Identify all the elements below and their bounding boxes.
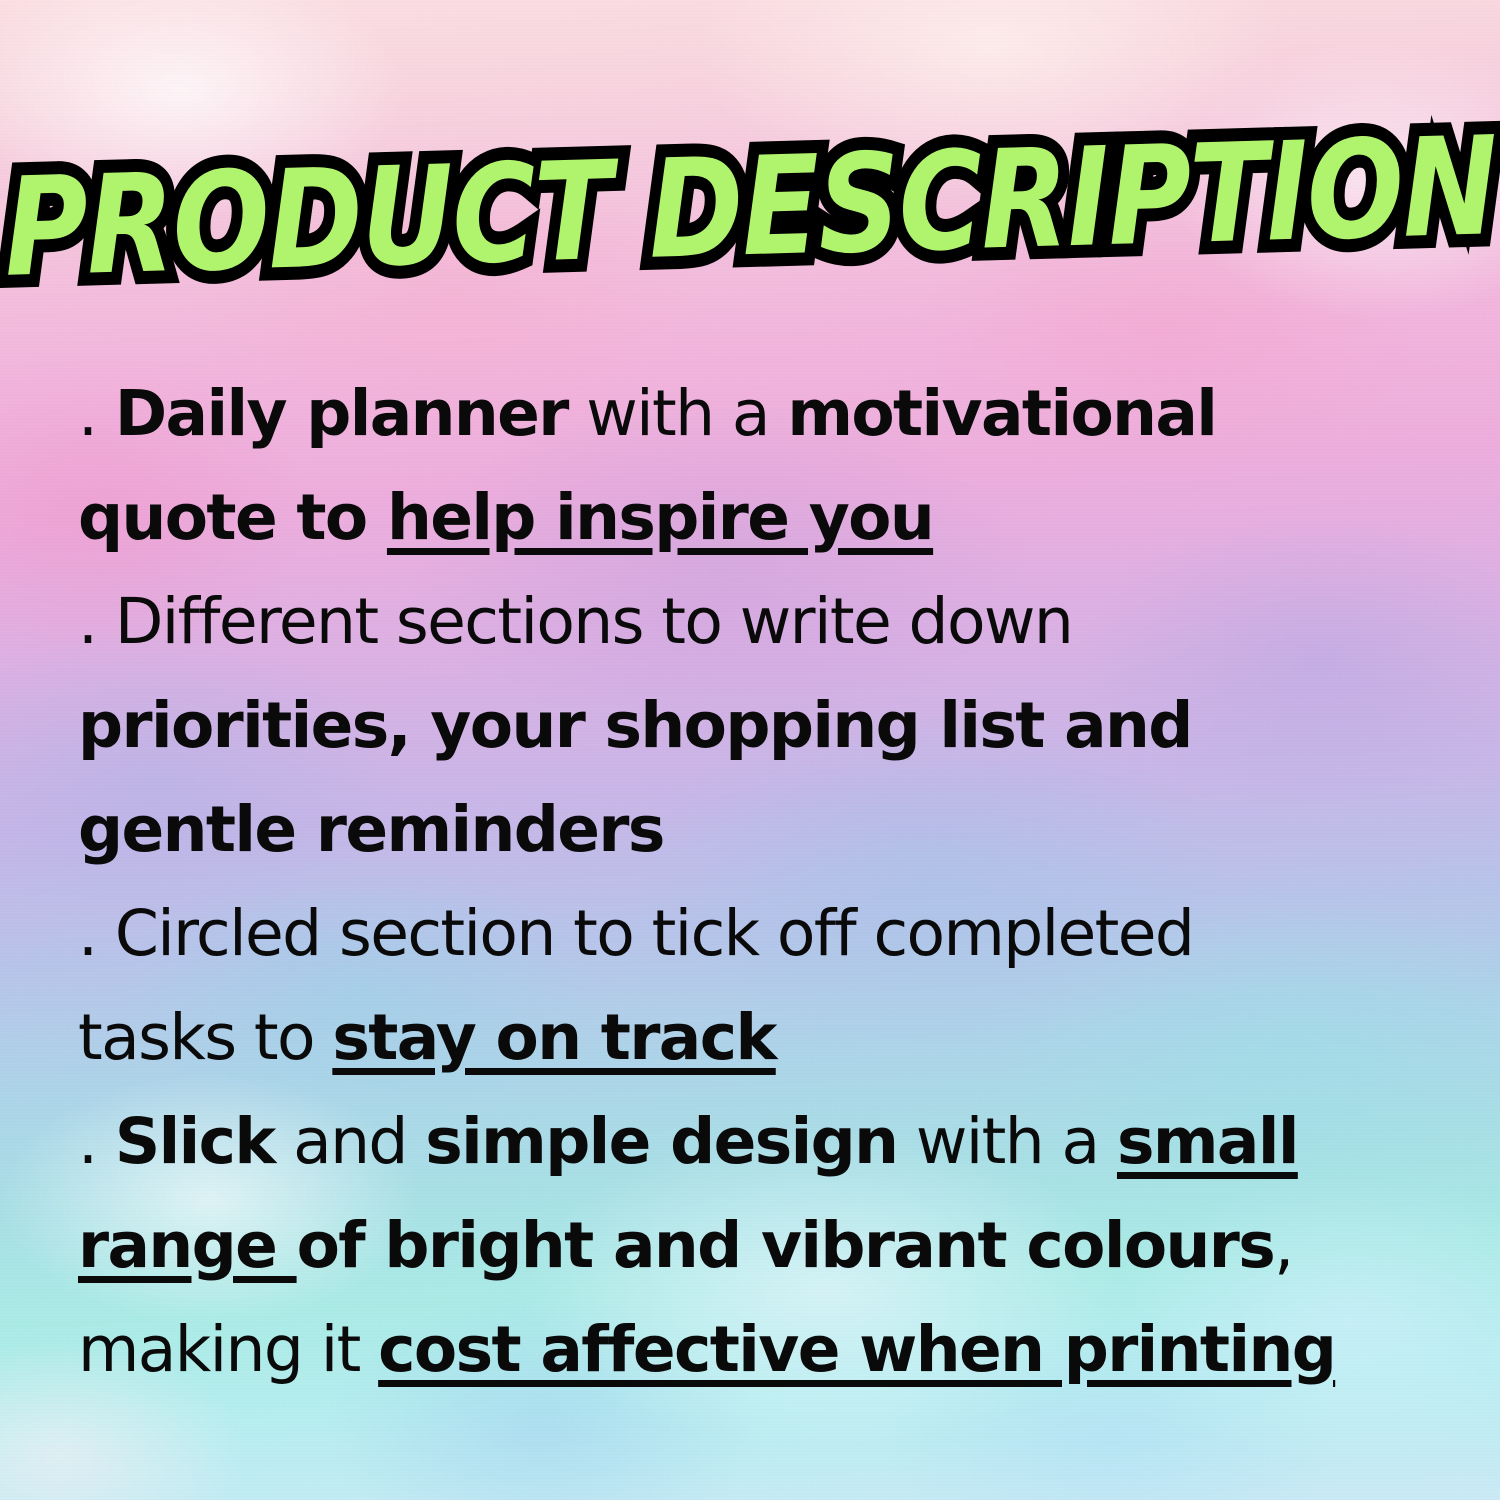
text-run: with a — [897, 1105, 1117, 1178]
text-run: cost affective when printing — [378, 1313, 1335, 1386]
text-run: . — [78, 377, 115, 450]
text-run: priorities, your shopping list and — [78, 689, 1192, 762]
bullet-different-sections-line-1: . Different sections to write down — [78, 570, 1438, 674]
text-run: motivational — [787, 377, 1216, 450]
bullet-slick-simple-design: . Slick and simple design with a smallra… — [78, 1090, 1438, 1402]
bullet-slick-simple-design-line-1: . Slick and simple design with a small — [78, 1090, 1438, 1194]
text-run: . Circled section to tick off completed — [78, 897, 1193, 970]
text-run: simple design — [425, 1105, 897, 1178]
text-run: with a — [568, 377, 788, 450]
text-run: quote to — [78, 481, 387, 554]
bullet-circled-section: . Circled section to tick off completedt… — [78, 882, 1438, 1090]
page-title-text: PRODUCT DESCRIPTION — [2, 119, 1498, 297]
bullet-different-sections-line-2: priorities, your shopping list and — [78, 674, 1438, 778]
text-run: , — [1274, 1209, 1292, 1282]
product-description-poster: PRODUCT DESCRIPTION . Daily planner with… — [0, 0, 1500, 1500]
bullet-daily-planner: . Daily planner with a motivationalquote… — [78, 362, 1438, 570]
text-run: help inspire you — [387, 481, 933, 554]
bullet-daily-planner-line-1: . Daily planner with a motivational — [78, 362, 1438, 466]
text-run: small — [1117, 1105, 1298, 1178]
text-run: of bright and vibrant colours — [297, 1209, 1275, 1282]
text-run: gentle reminders — [78, 793, 664, 866]
text-run: . — [78, 1105, 115, 1178]
bullet-circled-section-line-1: . Circled section to tick off completed — [78, 882, 1438, 986]
text-run: . Different sections to write down — [78, 585, 1072, 658]
text-run: and — [275, 1105, 426, 1178]
text-run: tasks to — [78, 1001, 332, 1074]
page-title: PRODUCT DESCRIPTION — [0, 118, 1500, 298]
bullet-slick-simple-design-line-3: making it cost affective when printing — [78, 1298, 1438, 1402]
text-run: making it — [78, 1313, 378, 1386]
text-run: Daily planner — [115, 377, 568, 450]
text-run: stay on track — [332, 1001, 775, 1074]
text-run: range — [78, 1209, 297, 1282]
description-list: . Daily planner with a motivationalquote… — [78, 362, 1438, 1402]
bullet-circled-section-line-2: tasks to stay on track — [78, 986, 1438, 1090]
bullet-different-sections-line-3: gentle reminders — [78, 778, 1438, 882]
bullet-slick-simple-design-line-2: range of bright and vibrant colours, — [78, 1194, 1438, 1298]
bullet-different-sections: . Different sections to write downpriori… — [78, 570, 1438, 882]
text-run: Slick — [115, 1105, 275, 1178]
bullet-daily-planner-line-2: quote to help inspire you — [78, 466, 1438, 570]
